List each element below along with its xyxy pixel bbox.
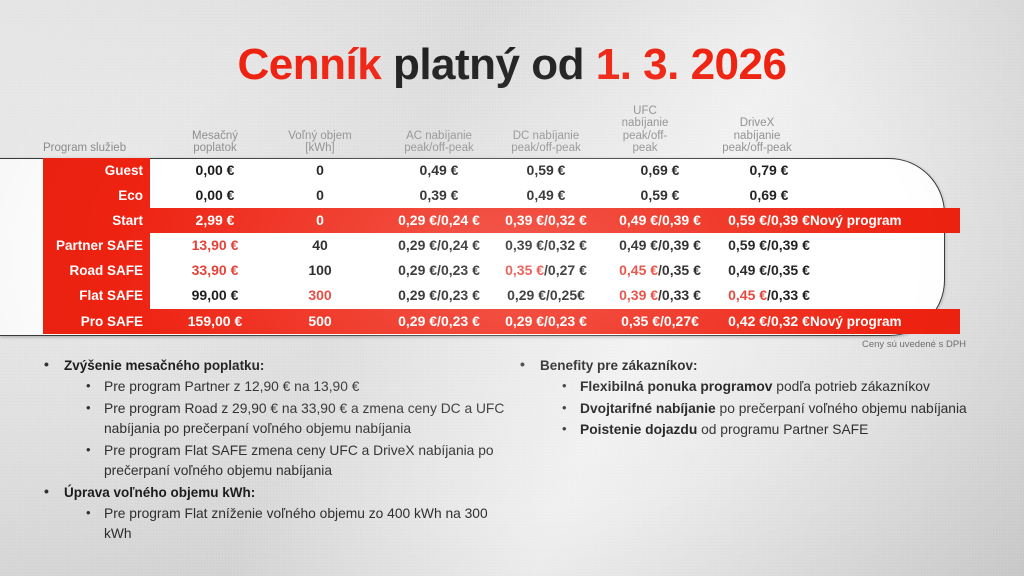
program-name: Start xyxy=(43,208,143,233)
dc-price: 0,39 €/0,32 € xyxy=(483,233,609,258)
title-part-platny-od: platný od xyxy=(381,40,596,89)
table-row: Guest0,00 €00,49 €0,59 €0,69 €0,79 € xyxy=(0,158,960,183)
table-row: Partner SAFE13,90 €400,29 €/0,24 €0,39 €… xyxy=(0,233,960,258)
free-volume: 500 xyxy=(267,309,373,334)
bullet-item-partner-fee: Pre program Partner z 12,90 € na 13,90 € xyxy=(36,377,516,398)
column-header-free-volume: Voľný objem[kWh] xyxy=(267,130,373,155)
monthly-fee: 0,00 € xyxy=(163,158,267,183)
program-name: Partner SAFE xyxy=(43,233,143,258)
program-name: Eco xyxy=(43,183,143,208)
free-volume: 300 xyxy=(267,283,373,308)
table-row: Road SAFE33,90 €1000,29 €/0,23 €0,35 €/0… xyxy=(0,258,960,283)
pricing-table: Program služieb Mesačnýpoplatok Voľný ob… xyxy=(0,96,960,346)
free-volume: 100 xyxy=(267,258,373,283)
notes-section: Zvýšenie mesačného poplatku: Pre program… xyxy=(0,356,1024,566)
program-name: Guest xyxy=(43,158,143,183)
monthly-fee: 99,00 € xyxy=(163,283,267,308)
monthly-fee: 2,99 € xyxy=(163,208,267,233)
drivex-price: 0,59 €/0,39 € xyxy=(706,233,832,258)
vat-footnote: Ceny sú uvedené s DPH xyxy=(862,339,966,350)
bullet-item-range-insurance-rest: od programu Partner SAFE xyxy=(697,422,868,437)
table-row: Flat SAFE99,00 €3000,29 €/0,23 €0,29 €/0… xyxy=(0,283,960,308)
table-body: Guest0,00 €00,49 €0,59 €0,69 €0,79 €Eco0… xyxy=(0,158,960,334)
column-header-ufc-charging: UFCnabíjaniepeak/off-peak xyxy=(600,105,690,155)
ufc-price: 0,49 €/0,39 € xyxy=(600,208,720,233)
dc-price: 0,29 €/0,23 € xyxy=(483,309,609,334)
monthly-fee: 13,90 € xyxy=(163,233,267,258)
ufc-price: 0,49 €/0,39 € xyxy=(600,233,720,258)
drivex-price: 0,49 €/0,35 € xyxy=(706,258,832,283)
free-volume: 0 xyxy=(267,158,373,183)
free-volume: 40 xyxy=(267,233,373,258)
bullet-item-flat-safe-price: Pre program Flat SAFE zmena ceny UFC a D… xyxy=(36,441,516,482)
notes-column-left: Zvýšenie mesačného poplatku: Pre program… xyxy=(36,356,516,546)
bullet-item-flexible-offer-lead: Flexibilná ponuka programov xyxy=(580,379,772,394)
column-header-drivex-charging: DriveXnabíjaniepeak/off-peak xyxy=(694,117,820,155)
column-header-program: Program služieb xyxy=(43,142,163,155)
row-note-badge: Nový program xyxy=(810,309,960,334)
table-row: Eco0,00 €00,39 €0,49 €0,59 €0,69 € xyxy=(0,183,960,208)
monthly-fee: 159,00 € xyxy=(163,309,267,334)
title-part-date: 1. 3. 2026 xyxy=(596,40,787,89)
dc-price: 0,39 €/0,32 € xyxy=(483,208,609,233)
ufc-price: 0,45 €/0,35 € xyxy=(600,258,720,283)
bullet-item-dual-tariff-lead: Dvojtarifné nabíjanie xyxy=(580,401,716,416)
bullet-item-road-fee: Pre program Road z 29,90 € na 33,90 € a … xyxy=(36,399,516,440)
program-name: Road SAFE xyxy=(43,258,143,283)
row-note-badge: Nový program xyxy=(810,208,960,233)
title-part-cennik: Cenník xyxy=(238,40,382,89)
drivex-price: 0,79 € xyxy=(706,158,832,183)
bullet-item-flexible-offer-rest: podľa potrieb zákazníkov xyxy=(772,379,929,394)
program-name: Pro SAFE xyxy=(43,309,143,334)
dc-price: 0,29 €/0,25€ xyxy=(483,283,609,308)
program-name: Flat SAFE xyxy=(43,283,143,308)
free-volume: 0 xyxy=(267,183,373,208)
dc-price: 0,59 € xyxy=(483,158,609,183)
table-row: Pro SAFE159,00 €5000,29 €/0,23 €0,29 €/0… xyxy=(0,309,960,334)
drivex-price: 0,69 € xyxy=(706,183,832,208)
column-header-dc-charging: DC nabíjaniepeak/off-peak xyxy=(483,130,609,155)
ufc-price: 0,39 €/0,33 € xyxy=(600,283,720,308)
bullet-heading-fee-increase: Zvýšenie mesačného poplatku: xyxy=(36,356,516,375)
bullet-item-flat-volume: Pre program Flat zníženie voľného objemu… xyxy=(36,504,516,545)
bullet-heading-volume-adjustment: Úprava voľného objemu kWh: xyxy=(36,483,516,502)
bullet-heading-benefits: Benefity pre zákazníkov: xyxy=(512,356,1012,375)
bullet-item-flexible-offer: Flexibilná ponuka programov podľa potrie… xyxy=(512,377,1012,398)
bullet-item-range-insurance: Poistenie dojazdu od programu Partner SA… xyxy=(512,420,1012,441)
bullet-item-dual-tariff-rest: po prečerpaní voľného objemu nabíjania xyxy=(716,401,967,416)
ufc-price: 0,35 €/0,27€ xyxy=(600,309,720,334)
dc-price: 0,49 € xyxy=(483,183,609,208)
page-title: Cenník platný od 1. 3. 2026 xyxy=(0,40,1024,90)
table-header-row: Program služieb Mesačnýpoplatok Voľný ob… xyxy=(0,96,960,158)
bullet-item-range-insurance-lead: Poistenie dojazdu xyxy=(580,422,697,437)
dc-price: 0,35 €/0,27 € xyxy=(483,258,609,283)
drivex-price: 0,45 €/0,33 € xyxy=(706,283,832,308)
column-header-monthly-fee: Mesačnýpoplatok xyxy=(163,130,267,155)
notes-column-right: Benefity pre zákazníkov: Flexibilná ponu… xyxy=(512,356,1012,442)
monthly-fee: 33,90 € xyxy=(163,258,267,283)
ufc-price: 0,59 € xyxy=(600,183,720,208)
bullet-item-dual-tariff: Dvojtarifné nabíjanie po prečerpaní voľn… xyxy=(512,399,1012,420)
table-row: Start2,99 €00,29 €/0,24 €0,39 €/0,32 €0,… xyxy=(0,208,960,233)
monthly-fee: 0,00 € xyxy=(163,183,267,208)
ufc-price: 0,69 € xyxy=(600,158,720,183)
free-volume: 0 xyxy=(267,208,373,233)
